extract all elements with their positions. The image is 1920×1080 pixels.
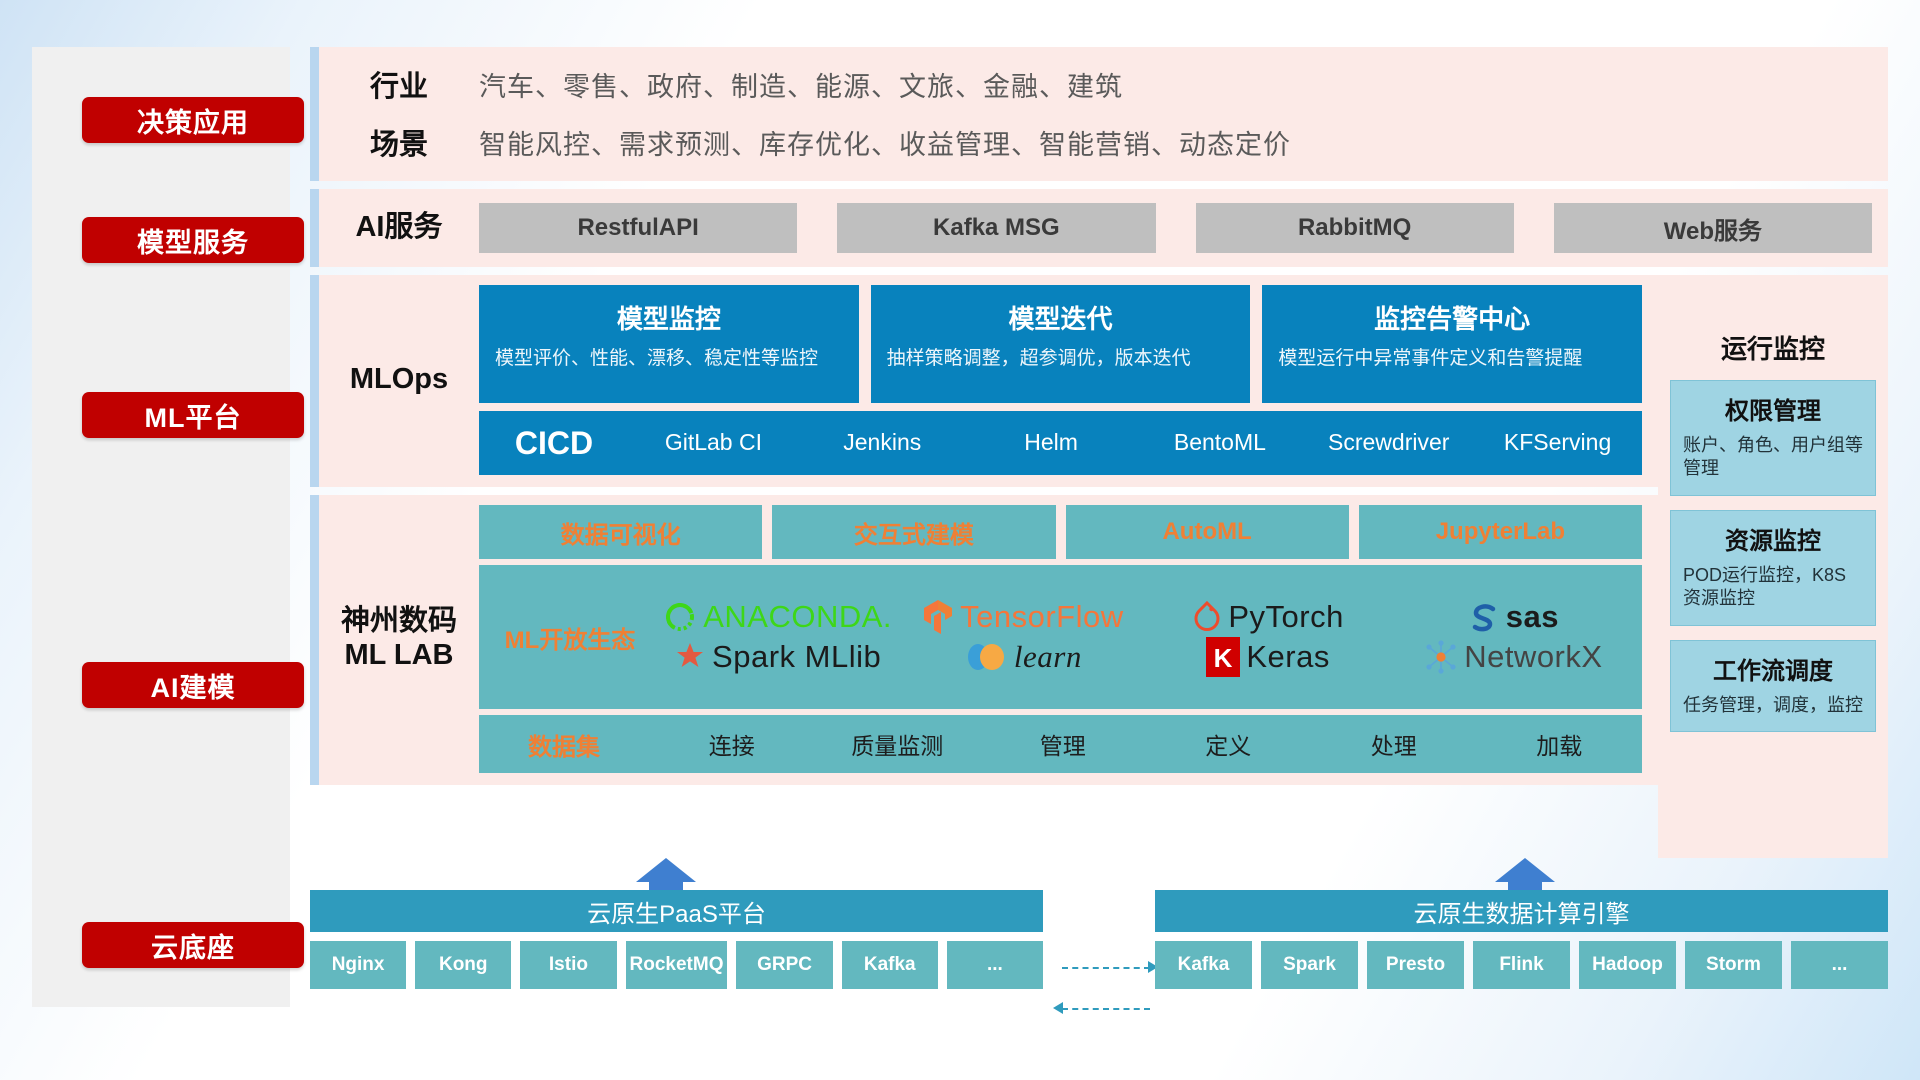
card-title: 工作流调度 bbox=[1683, 651, 1863, 686]
monitor-card-permission[interactable]: 权限管理 账户、角色、用户组等管理 bbox=[1670, 380, 1876, 496]
rail-item-ai-modeling[interactable]: AI建模 bbox=[82, 662, 304, 708]
apache-spark-logo: Spark MLlib bbox=[674, 639, 881, 675]
scikit-icon bbox=[964, 640, 1008, 674]
dataset-item-quality[interactable]: 质量监测 bbox=[815, 727, 981, 761]
ai-service-label: AI服务 bbox=[319, 211, 479, 245]
tool-interactive-modeling[interactable]: 交互式建模 bbox=[772, 505, 1055, 559]
dataset-item-connect[interactable]: 连接 bbox=[649, 727, 815, 761]
tensorflow-label: TensorFlow bbox=[960, 599, 1124, 635]
ai-service-list: RestfulAPI Kafka MSG RabbitMQ Web服务 bbox=[479, 203, 1888, 253]
scenario-label: 场景 bbox=[319, 121, 479, 163]
tool-jupyterlab[interactable]: JupyterLab bbox=[1359, 505, 1642, 559]
main-column: 行业 汽车、零售、政府、制造、能源、文旅、金融、建筑 场景 智能风控、需求预测、… bbox=[310, 47, 1888, 793]
card-desc: 模型运行中异常事件定义和告警提醒 bbox=[1278, 346, 1626, 371]
service-rabbitmq[interactable]: RabbitMQ bbox=[1196, 203, 1514, 253]
dataset-item-manage[interactable]: 管理 bbox=[980, 727, 1146, 761]
card-title: 权限管理 bbox=[1683, 391, 1863, 426]
chip-flink[interactable]: Flink bbox=[1473, 941, 1570, 989]
ml-ecosystem-logos: ANACONDA. TensorFlow bbox=[655, 597, 1636, 677]
dataset-item-load[interactable]: 加载 bbox=[1477, 727, 1643, 761]
pytorch-icon bbox=[1192, 600, 1222, 634]
sas-label: sas bbox=[1506, 599, 1559, 635]
data-engine-chip-row: Kafka Spark Presto Flink Hadoop Storm ..… bbox=[1155, 941, 1888, 989]
chip-more-engine[interactable]: ... bbox=[1791, 941, 1888, 989]
monitor-card-resource[interactable]: 资源监控 POD运行监控，K8S资源监控 bbox=[1670, 510, 1876, 626]
rail-item-model-service[interactable]: 模型服务 bbox=[82, 217, 304, 263]
ml-lab-label: 神州数码 ML LAB bbox=[319, 605, 479, 672]
ai-service-band: AI服务 RestfulAPI Kafka MSG RabbitMQ Web服务 bbox=[310, 189, 1888, 267]
card-title: 模型迭代 bbox=[887, 299, 1235, 336]
networkx-icon bbox=[1424, 640, 1458, 674]
networkx-label: NetworkX bbox=[1464, 639, 1602, 675]
paas-group: 云原生PaaS平台 Nginx Kong Istio RocketMQ GRPC… bbox=[310, 890, 1043, 989]
svg-text:K: K bbox=[1214, 643, 1233, 673]
mlops-card-row: 模型监控 模型评价、性能、漂移、稳定性等监控 模型迭代 抽样策略调整，超参调优，… bbox=[479, 285, 1642, 403]
card-title: 资源监控 bbox=[1683, 521, 1863, 556]
mlops-card-alert-center[interactable]: 监控告警中心 模型运行中异常事件定义和告警提醒 bbox=[1262, 285, 1642, 403]
pytorch-logo: PyTorch bbox=[1192, 599, 1343, 635]
chip-hadoop[interactable]: Hadoop bbox=[1579, 941, 1676, 989]
anaconda-icon bbox=[663, 600, 697, 634]
cicd-row: CICD GitLab CI Jenkins Helm BentoML Scre… bbox=[479, 411, 1642, 475]
dataset-item-process[interactable]: 处理 bbox=[1311, 727, 1477, 761]
mlops-label: MLOps bbox=[319, 363, 479, 397]
cicd-item-gitlab-ci[interactable]: GitLab CI bbox=[629, 431, 798, 455]
scenario-values: 智能风控、需求预测、库存优化、收益管理、智能营销、动态定价 bbox=[479, 123, 1291, 162]
chip-nginx[interactable]: Nginx bbox=[310, 941, 406, 989]
networkx-logo: NetworkX bbox=[1424, 639, 1602, 675]
keras-logo: K Keras bbox=[1206, 637, 1329, 677]
cicd-item-kfserving[interactable]: KFServing bbox=[1473, 431, 1642, 455]
ml-ecosystem-title: ML开放生态 bbox=[485, 620, 655, 655]
mlops-content: 模型监控 模型评价、性能、漂移、稳定性等监控 模型迭代 抽样策略调整，超参调优，… bbox=[479, 285, 1652, 475]
sas-icon bbox=[1468, 601, 1500, 633]
pytorch-label: PyTorch bbox=[1228, 599, 1343, 635]
service-restful-api[interactable]: RestfulAPI bbox=[479, 203, 797, 253]
industry-label: 行业 bbox=[319, 63, 479, 105]
card-desc: 抽样策略调整，超参调优，版本迭代 bbox=[887, 346, 1235, 371]
cicd-title: CICD bbox=[479, 425, 629, 462]
cicd-item-helm[interactable]: Helm bbox=[967, 431, 1136, 455]
cicd-item-bentoml[interactable]: BentoML bbox=[1135, 431, 1304, 455]
spark-label: Spark MLlib bbox=[712, 639, 881, 675]
scenario-row: 场景 智能风控、需求预测、库存优化、收益管理、智能营销、动态定价 bbox=[319, 121, 1888, 163]
mlops-card-model-iteration[interactable]: 模型迭代 抽样策略调整，超参调优，版本迭代 bbox=[871, 285, 1251, 403]
runtime-monitor-title: 运行监控 bbox=[1670, 329, 1876, 366]
industry-row: 行业 汽车、零售、政府、制造、能源、文旅、金融、建筑 bbox=[319, 63, 1888, 105]
mlops-band: MLOps 模型监控 模型评价、性能、漂移、稳定性等监控 模型迭代 抽样策略调整… bbox=[310, 275, 1888, 487]
chip-grpc[interactable]: GRPC bbox=[736, 941, 832, 989]
spark-icon bbox=[674, 641, 706, 673]
card-desc: 模型评价、性能、漂移、稳定性等监控 bbox=[495, 346, 843, 371]
tool-automl[interactable]: AutoML bbox=[1066, 505, 1349, 559]
runtime-monitor-column: 运行监控 权限管理 账户、角色、用户组等管理 资源监控 POD运行监控，K8S资… bbox=[1658, 313, 1888, 858]
ml-lab-tool-row: 数据可视化 交互式建模 AutoML JupyterLab bbox=[479, 505, 1642, 559]
ml-lab-band: 神州数码 ML LAB 数据可视化 交互式建模 AutoML JupyterLa… bbox=[310, 495, 1888, 785]
service-web[interactable]: Web服务 bbox=[1554, 203, 1872, 253]
card-desc: 账户、角色、用户组等管理 bbox=[1683, 434, 1863, 481]
rail-item-decision-app[interactable]: 决策应用 bbox=[82, 97, 304, 143]
chip-kafka[interactable]: Kafka bbox=[842, 941, 938, 989]
anaconda-logo: ANACONDA. bbox=[663, 599, 892, 635]
chip-rocketmq[interactable]: RocketMQ bbox=[626, 941, 728, 989]
industry-values: 汽车、零售、政府、制造、能源、文旅、金融、建筑 bbox=[479, 65, 1123, 104]
sas-logo: sas bbox=[1468, 599, 1559, 635]
data-engine-bar[interactable]: 云原生数据计算引擎 bbox=[1155, 890, 1888, 932]
dataset-title: 数据集 bbox=[479, 727, 649, 762]
keras-label: Keras bbox=[1246, 639, 1329, 675]
card-title: 监控告警中心 bbox=[1278, 299, 1626, 336]
anaconda-label: ANACONDA. bbox=[703, 599, 892, 635]
card-title: 模型监控 bbox=[495, 299, 843, 336]
service-kafka-msg[interactable]: Kafka MSG bbox=[837, 203, 1155, 253]
mlops-card-model-monitoring[interactable]: 模型监控 模型评价、性能、漂移、稳定性等监控 bbox=[479, 285, 859, 403]
industry-scenario-band: 行业 汽车、零售、政府、制造、能源、文旅、金融、建筑 场景 智能风控、需求预测、… bbox=[310, 47, 1888, 181]
card-desc: 任务管理，调度，监控 bbox=[1683, 694, 1863, 717]
cicd-item-screwdriver[interactable]: Screwdriver bbox=[1304, 431, 1473, 455]
paas-chip-row: Nginx Kong Istio RocketMQ GRPC Kafka ... bbox=[310, 941, 1043, 989]
tensorflow-logo: TensorFlow bbox=[922, 598, 1124, 636]
paas-bar[interactable]: 云原生PaaS平台 bbox=[310, 890, 1043, 932]
scikit-learn-logo: learn bbox=[964, 639, 1082, 675]
keras-icon: K bbox=[1206, 637, 1240, 677]
left-rail: 决策应用 模型服务 ML平台 AI建模 云底座 bbox=[32, 47, 290, 1007]
monitor-card-workflow[interactable]: 工作流调度 任务管理，调度，监控 bbox=[1670, 640, 1876, 732]
dataset-item-define[interactable]: 定义 bbox=[1146, 727, 1312, 761]
chip-spark[interactable]: Spark bbox=[1261, 941, 1358, 989]
chip-more[interactable]: ... bbox=[947, 941, 1043, 989]
data-engine-group: 云原生数据计算引擎 Kafka Spark Presto Flink Hadoo… bbox=[1155, 890, 1888, 989]
chip-istio[interactable]: Istio bbox=[520, 941, 616, 989]
diagram-canvas: 决策应用 模型服务 ML平台 AI建模 云底座 行业 汽车、零售、政府、制造、能… bbox=[0, 0, 1920, 1080]
chip-kafka-engine[interactable]: Kafka bbox=[1155, 941, 1252, 989]
scikit-label: learn bbox=[1014, 639, 1082, 675]
rail-item-ml-platform[interactable]: ML平台 bbox=[82, 392, 304, 438]
tensorflow-icon bbox=[922, 598, 954, 636]
cicd-item-jenkins[interactable]: Jenkins bbox=[798, 431, 967, 455]
chip-storm[interactable]: Storm bbox=[1685, 941, 1782, 989]
chip-presto[interactable]: Presto bbox=[1367, 941, 1464, 989]
dataset-row: 数据集 连接 质量监测 管理 定义 处理 加载 bbox=[479, 715, 1642, 773]
rail-item-cloud-base[interactable]: 云底座 bbox=[82, 922, 304, 968]
chip-kong[interactable]: Kong bbox=[415, 941, 511, 989]
tool-data-visualization[interactable]: 数据可视化 bbox=[479, 505, 762, 559]
card-desc: POD运行监控，K8S资源监控 bbox=[1683, 564, 1863, 611]
cloud-base-section: 云原生PaaS平台 Nginx Kong Istio RocketMQ GRPC… bbox=[310, 890, 1888, 1060]
ml-lab-content: 数据可视化 交互式建模 AutoML JupyterLab ML开放生态 A bbox=[479, 505, 1652, 773]
ml-ecosystem-row: ML开放生态 ANACONDA. bbox=[479, 565, 1642, 709]
